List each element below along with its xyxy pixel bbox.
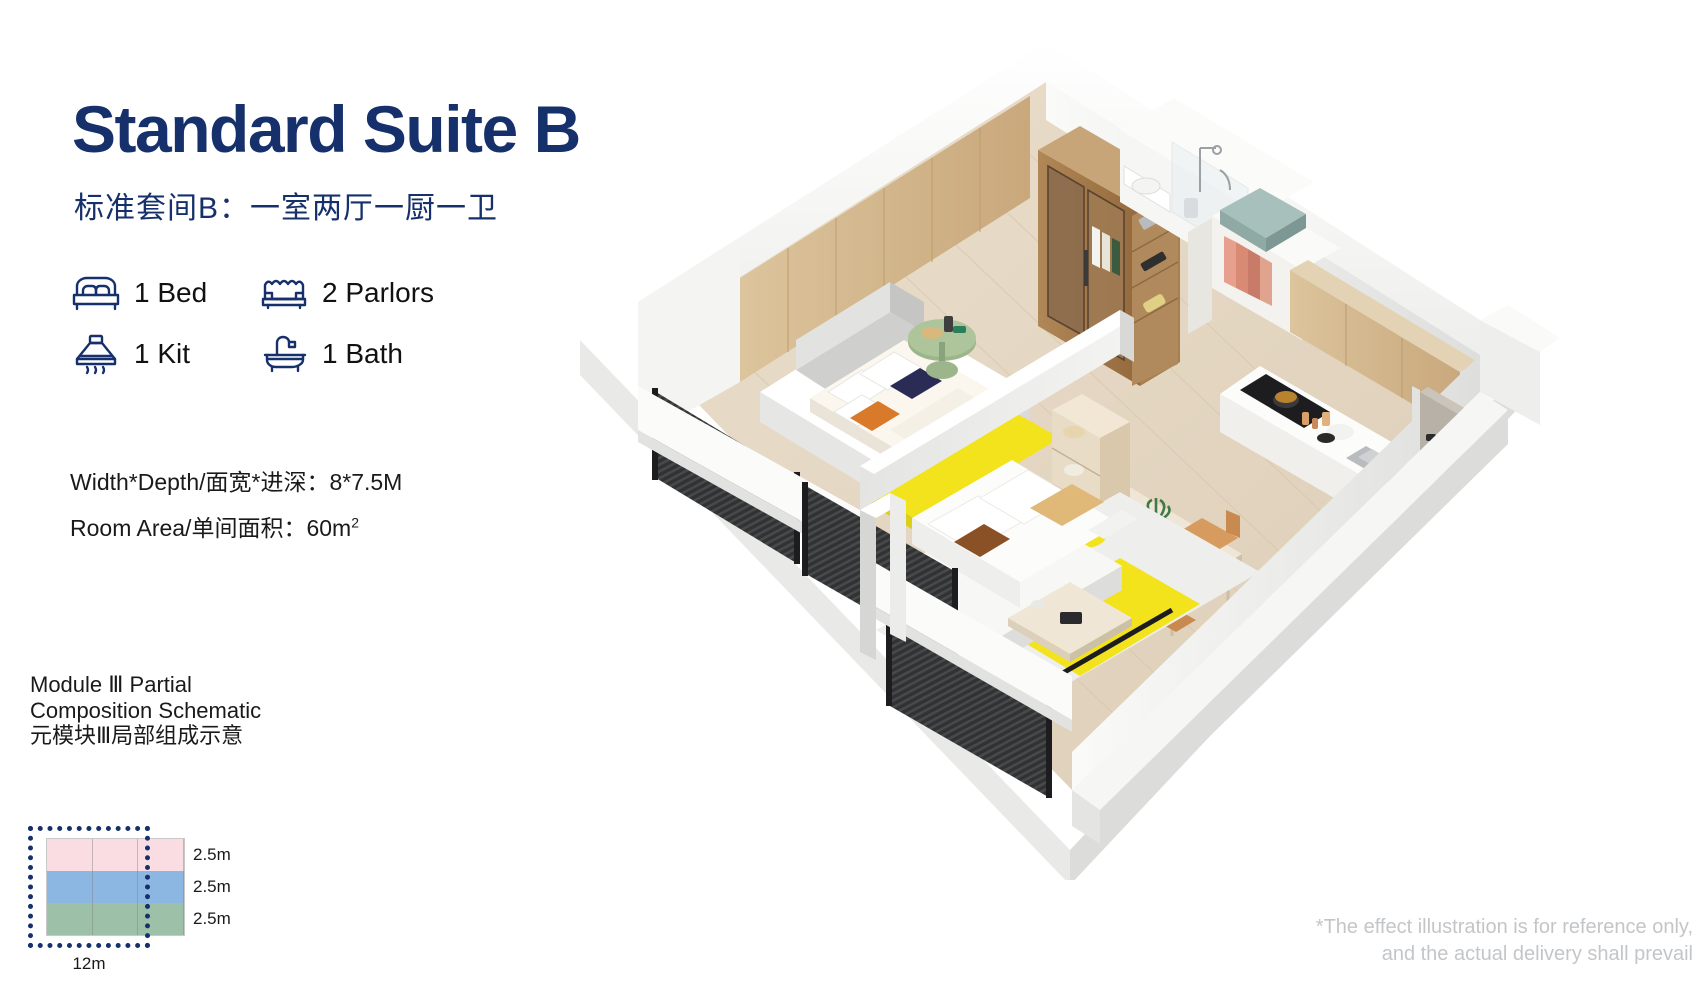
schematic-outline bbox=[28, 826, 150, 948]
feature-bed-label: 1 Bed bbox=[134, 277, 207, 309]
dimension-width-depth: Width*Depth/面宽*进深：8*7.5M bbox=[70, 463, 402, 497]
sofa-icon bbox=[258, 271, 310, 315]
feature-bed: 1 Bed bbox=[70, 271, 258, 315]
feature-parlors: 2 Parlors bbox=[258, 271, 446, 315]
schematic-band-label: 2.5m bbox=[193, 845, 231, 865]
range-hood-icon bbox=[70, 332, 122, 376]
feature-kitchen-label: 1 Kit bbox=[134, 338, 190, 370]
page-title: Standard Suite B bbox=[72, 96, 580, 162]
room-area-superscript: 2 bbox=[351, 514, 359, 530]
schematic-width-label: 12m bbox=[28, 954, 150, 974]
info-panel: Standard Suite B 标准套间B：一室两厅一厨一卫 1 Bed bbox=[0, 0, 700, 984]
feature-bath-label: 1 Bath bbox=[322, 338, 403, 370]
feature-kitchen: 1 Kit bbox=[70, 332, 258, 376]
schematic-band-label: 2.5m bbox=[193, 877, 231, 897]
floorplan-render bbox=[560, 20, 1560, 880]
schematic-band-label: 2.5m bbox=[193, 909, 231, 929]
page-subtitle: 标准套间B：一室两厅一厨一卫 bbox=[74, 183, 498, 227]
dimension-room-area: Room Area/单间面积：60m2 bbox=[70, 509, 359, 543]
feature-bath: 1 Bath bbox=[258, 332, 446, 376]
room-area-text: Room Area/单间面积：60m bbox=[70, 515, 351, 541]
feature-parlors-label: 2 Parlors bbox=[322, 277, 434, 309]
module-schematic: 2.5m 2.5m 2.5m 12m bbox=[28, 826, 258, 984]
bed-icon bbox=[70, 271, 122, 315]
disclaimer-text: *The effect illustration is for referenc… bbox=[1316, 914, 1693, 968]
feature-list: 1 Bed 2 Parlors bbox=[70, 262, 490, 384]
schematic-caption: Module Ⅲ Partial Composition Schematic 元… bbox=[30, 672, 261, 749]
bathtub-icon bbox=[258, 332, 310, 376]
